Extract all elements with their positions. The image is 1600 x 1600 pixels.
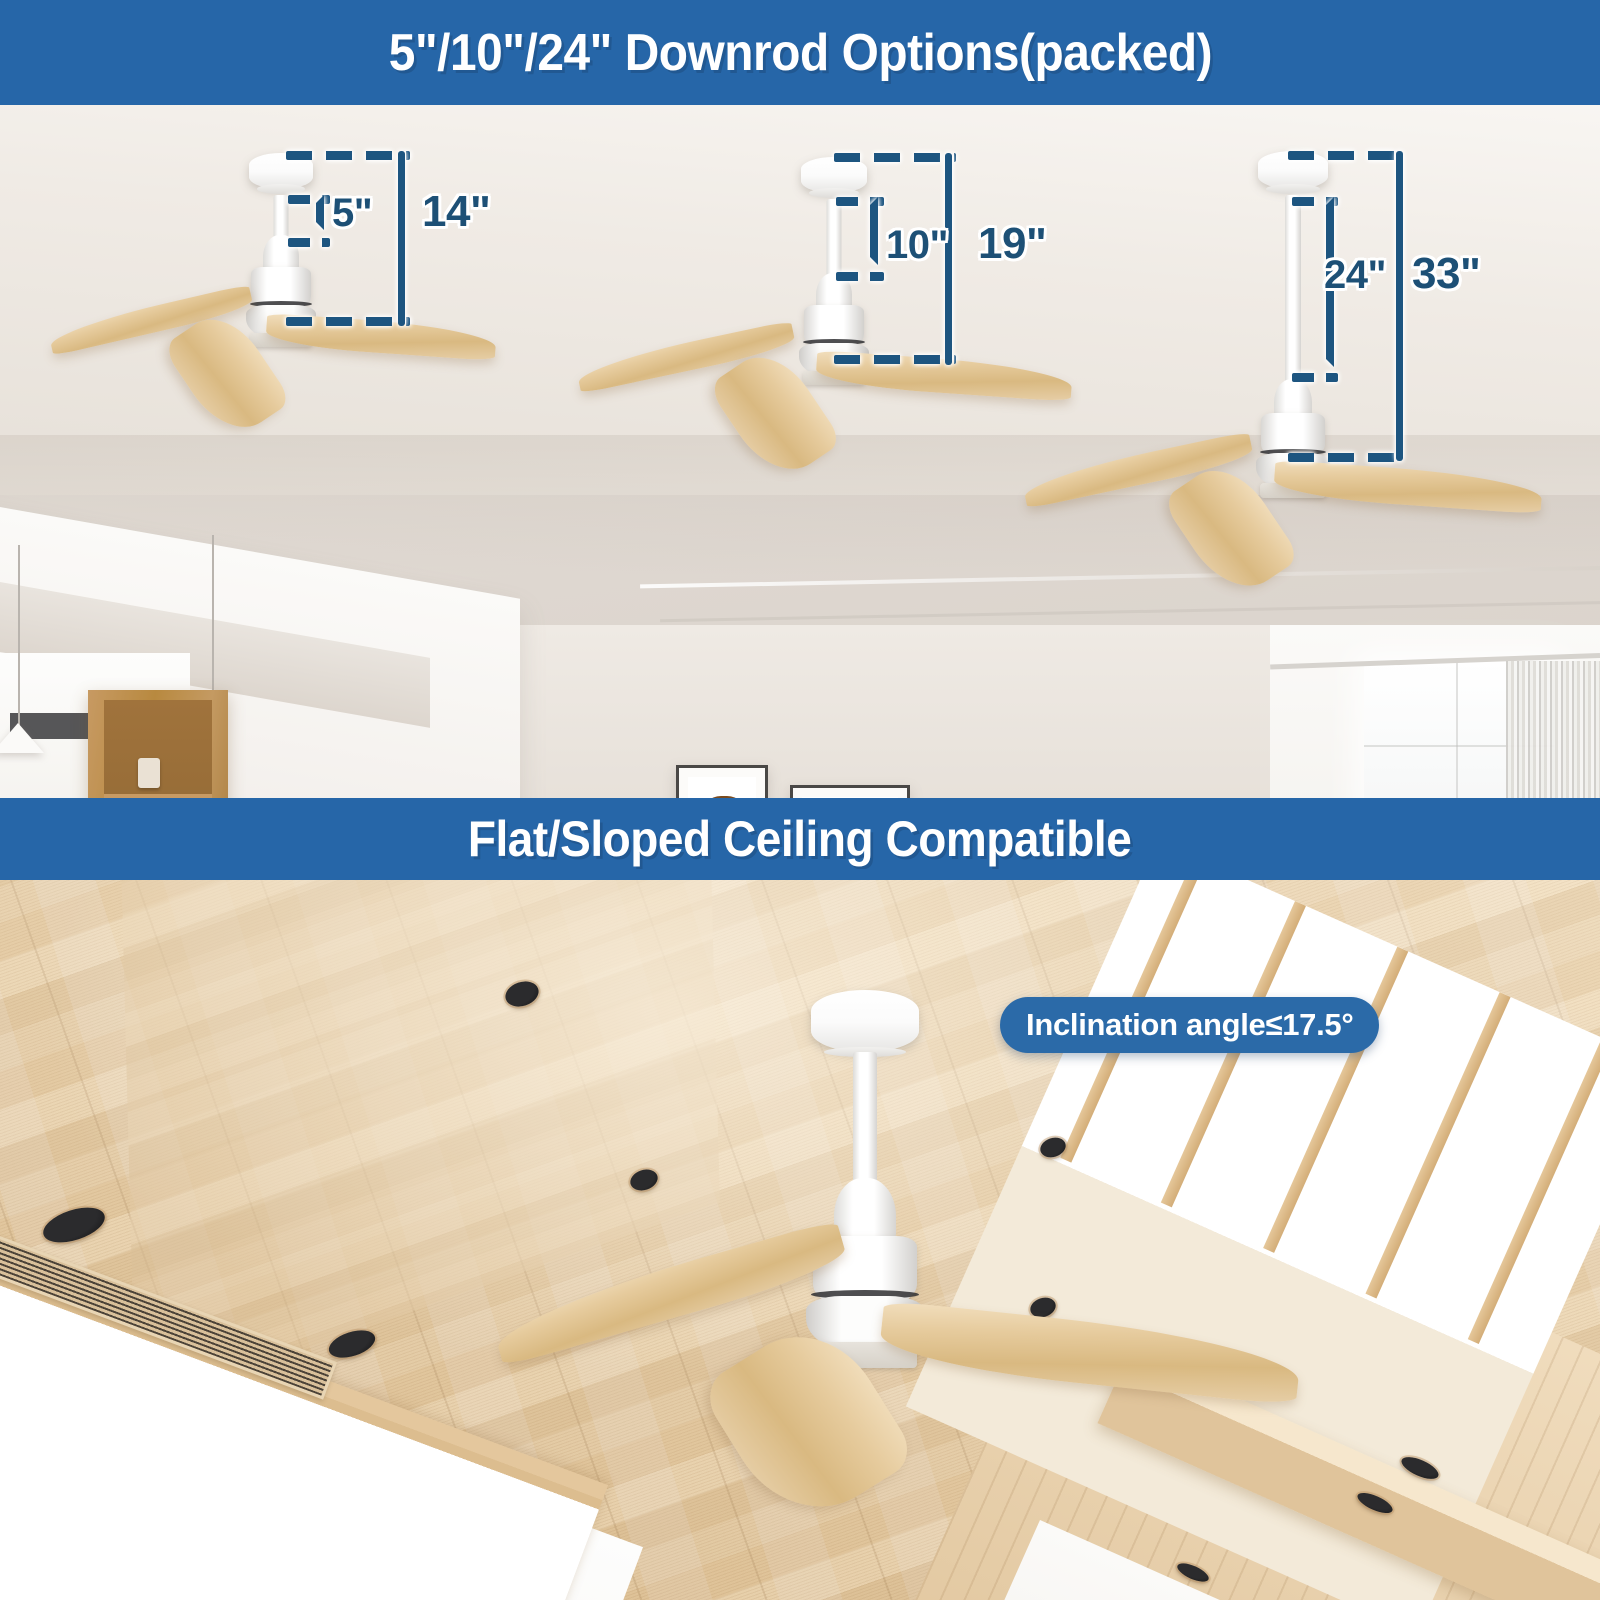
fan-downrod (853, 1052, 877, 1188)
infographic-page: 5"/10"/24" Downrod Options(packed) (0, 0, 1600, 1600)
wall-art-frame (790, 785, 910, 798)
scene-flat-ceiling-room: 5" 14" 10" 19" 24" 33" (0, 105, 1600, 798)
pendant-cord (18, 545, 20, 725)
pendant-shade (0, 723, 44, 753)
ceiling-fan-24in-downrod (1198, 143, 1388, 533)
banner-downrod-options: 5"/10"/24" Downrod Options(packed) (0, 0, 1600, 105)
ceiling-fan-sloped-mount (760, 990, 970, 1330)
inclination-angle-badge: Inclination angle≤17.5° (1000, 997, 1379, 1053)
window-mullion (1161, 901, 1306, 1207)
window-curtain (1506, 661, 1600, 798)
banner-top-text: 5"/10"/24" Downrod Options(packed) (388, 23, 1211, 83)
fan-canopy (801, 157, 867, 193)
banner-middle-text: Flat/Sloped Ceiling Compatible (468, 810, 1131, 868)
ceiling-fan-5in-downrod (196, 143, 366, 383)
fan-neck (834, 1178, 896, 1244)
fan-downrod (1285, 195, 1301, 383)
ceiling-fan-10in-downrod (744, 147, 924, 417)
window-mullion (1365, 992, 1510, 1298)
fan-downrod (274, 195, 289, 239)
window-mullion (1263, 947, 1408, 1253)
fan-canopy (1258, 151, 1328, 189)
scene-sloped-wood-ceiling: Inclination angle≤17.5° (0, 880, 1600, 1600)
fan-downrod (827, 199, 842, 277)
banner-ceiling-compatible: Flat/Sloped Ceiling Compatible (0, 798, 1600, 880)
window-mullion (1456, 661, 1458, 798)
fan-canopy (811, 990, 919, 1052)
ceiling-beam-line-secondary (660, 601, 1600, 622)
wall-art-frame (676, 765, 768, 798)
wood-cabinet (88, 690, 228, 798)
pendant-lamp-1 (0, 545, 48, 798)
frame-mat (688, 777, 756, 798)
cabinet-jar (138, 758, 160, 788)
fan-canopy (249, 153, 313, 189)
